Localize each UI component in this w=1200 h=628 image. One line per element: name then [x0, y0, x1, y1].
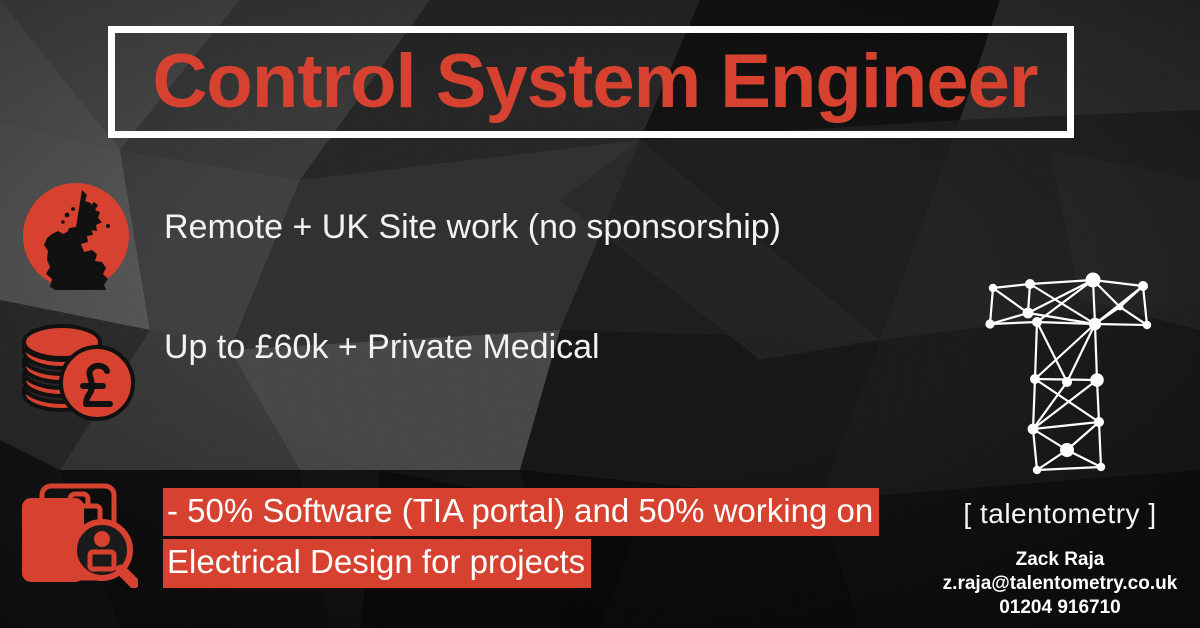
brand-name: [ talentometry ] [930, 498, 1190, 530]
frame-bottom-bar [108, 131, 1074, 138]
contact-name: Zack Raja [930, 548, 1190, 572]
bullet-text-role-line-2: Electrical Design for projects [163, 539, 591, 587]
frame-left-bar [108, 26, 115, 138]
bullet-text-role-line-1: - 50% Software (TIA portal) and 50% work… [163, 488, 879, 536]
contact-block: Zack Raja z.raja@talentometry.co.uk 0120… [930, 548, 1190, 620]
bullet-text-salary: Up to £60k + Private Medical [164, 328, 600, 367]
uk-map-icon [22, 182, 130, 290]
job-advert-banner: Control System Engineer Remote + UK Site… [0, 0, 1200, 628]
frame-right-bar [1067, 26, 1074, 138]
talentometry-network-t-logo-icon [975, 262, 1165, 477]
frame-top-bar [108, 26, 1074, 33]
title-frame: Control System Engineer [108, 26, 1074, 138]
contact-phone: 01204 916710 [930, 596, 1190, 620]
contact-email: z.raja@talentometry.co.uk [930, 572, 1190, 596]
pound-coins-icon [18, 320, 136, 424]
page-title: Control System Engineer [130, 44, 1060, 120]
bullet-highlight-block: - 50% Software (TIA portal) and 50% work… [163, 488, 879, 588]
bullet-text-location: Remote + UK Site work (no sponsorship) [164, 208, 781, 247]
job-search-icon [18, 476, 138, 588]
